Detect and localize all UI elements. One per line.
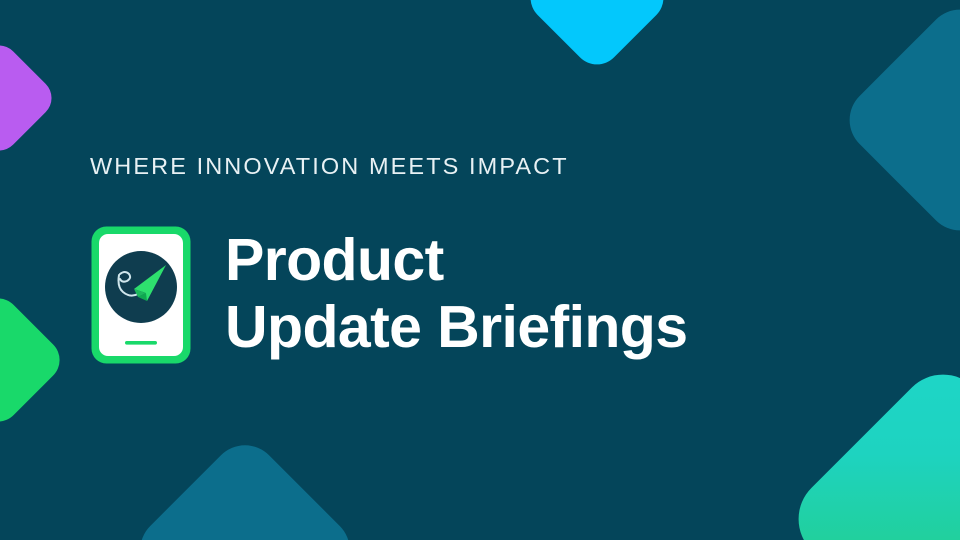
slide-content: WHERE INNOVATION MEETS IMPACT bbox=[90, 155, 890, 365]
slide-eyebrow-text: WHERE INNOVATION MEETS IMPACT bbox=[90, 155, 890, 179]
title-row: Product Update Briefings bbox=[90, 225, 890, 365]
cyan-diamond-top-shape bbox=[521, 0, 674, 74]
gradient-diamond-corner-shape bbox=[780, 356, 960, 540]
title-block: Product Update Briefings bbox=[225, 225, 687, 362]
presentation-slide: WHERE INNOVATION MEETS IMPACT bbox=[0, 0, 960, 540]
slide-title-line-1: Product bbox=[225, 227, 687, 294]
green-diamond-left-shape bbox=[0, 289, 69, 430]
slide-title-line-2: Update Briefings bbox=[225, 294, 687, 361]
product-briefings-logo-icon bbox=[90, 225, 192, 365]
teal-diamond-bottom-shape bbox=[126, 431, 364, 540]
purple-diamond-left-shape bbox=[0, 37, 60, 159]
